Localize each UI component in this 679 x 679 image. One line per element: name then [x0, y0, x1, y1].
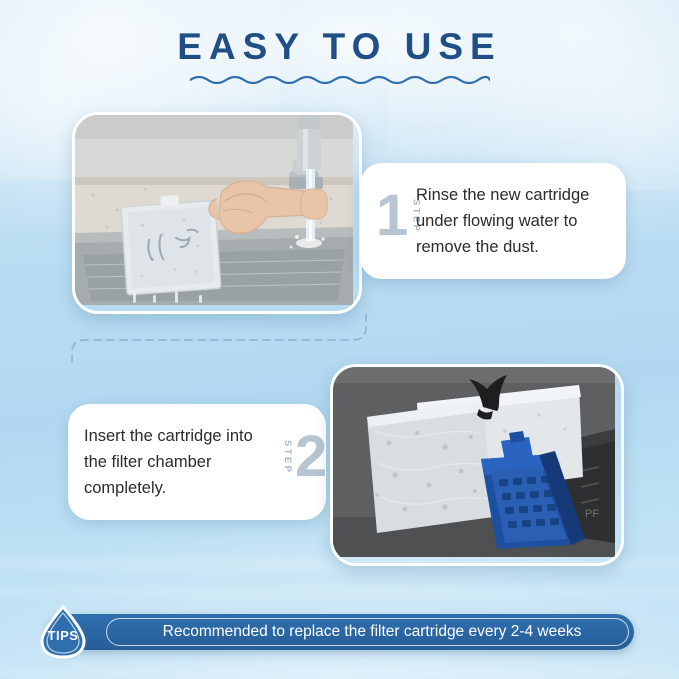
tips-badge: TIPS: [34, 604, 92, 660]
step-1-marker: 1 STEP: [376, 189, 421, 243]
tips-text: Recommended to replace the filter cartri…: [120, 614, 624, 650]
svg-text:PF: PF: [585, 508, 599, 520]
step-1-photo: [72, 112, 362, 314]
step-1-card: 1 STEP Rinse the new cartridge under flo…: [360, 163, 626, 279]
step-1-number: 1: [376, 189, 408, 243]
step-2-marker: STEP 2: [282, 430, 327, 484]
water-ripple-icon: [0, 666, 679, 679]
step-2-word: STEP: [282, 440, 293, 474]
infographic-page: EASY TO USE: [0, 0, 679, 679]
step-2-card: Insert the cartridge into the filter cha…: [68, 404, 326, 520]
step-2-text: Insert the cartridge into the filter cha…: [84, 423, 280, 501]
water-ripple-icon: [0, 586, 679, 598]
step-1-text: Rinse the new cartridge under flowing wa…: [416, 182, 616, 260]
step-2-photo: PF: [330, 364, 624, 566]
step-1-photo-illustration-icon: [75, 115, 353, 305]
step-2-number: 2: [295, 430, 327, 484]
dashed-connector-icon: [70, 306, 370, 366]
title-wave-underline-icon: [190, 74, 490, 84]
page-title: EASY TO USE: [0, 26, 679, 68]
tips-badge-label: TIPS: [34, 604, 92, 660]
tips-bar: Recommended to replace the filter cartri…: [46, 614, 634, 650]
step-2-photo-illustration-icon: PF: [333, 367, 615, 557]
